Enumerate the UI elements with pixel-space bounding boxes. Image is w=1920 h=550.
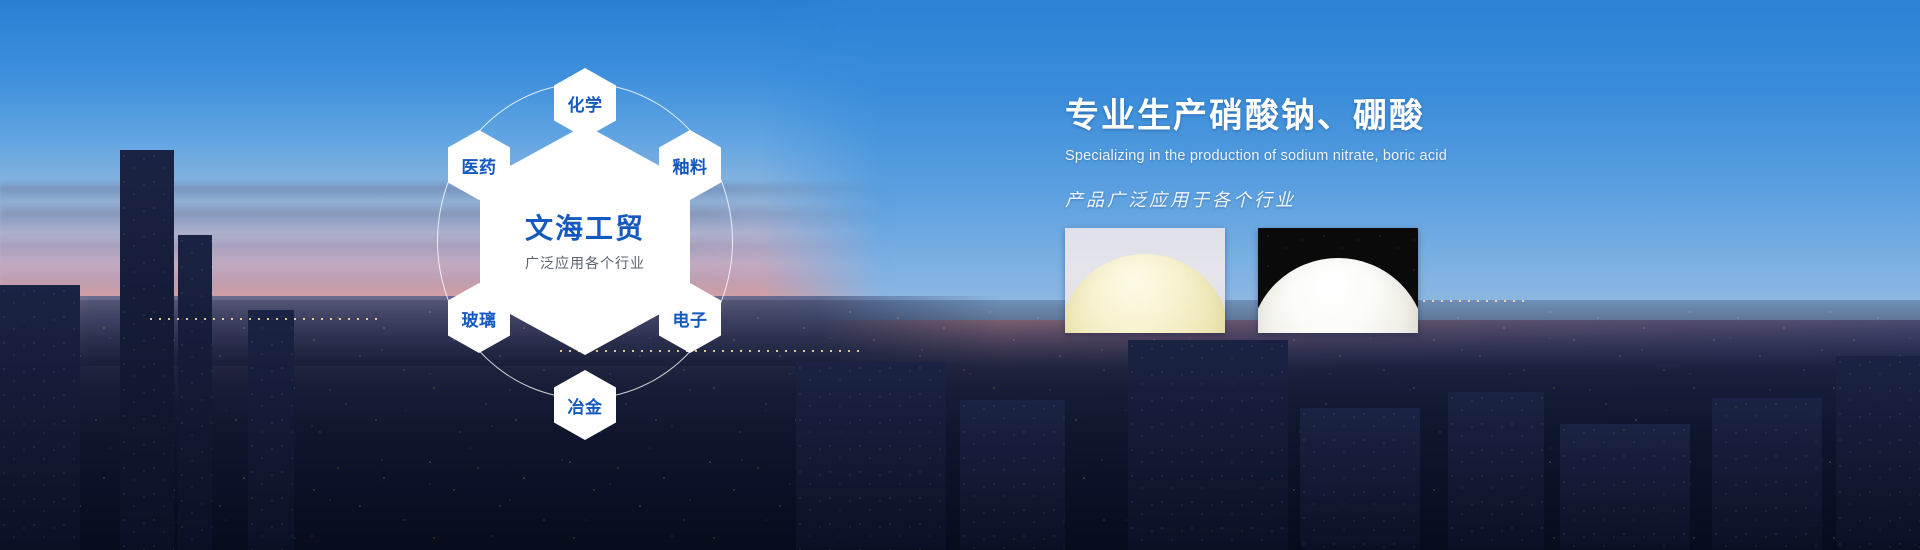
- boric-acid-photo[interactable]: [1258, 228, 1418, 333]
- industry-hex-diagram: 化学 釉料 医药 电子 玻璃 冶金 文海工贸 广泛应用各个行业: [420, 30, 750, 450]
- hex-node-label: 玻璃: [462, 306, 497, 331]
- headline-chinese: 专业生产硝酸钠、硼酸: [1065, 95, 1765, 138]
- headline-english: Specializing in the production of sodium…: [1065, 148, 1765, 164]
- company-tagline: 广泛应用各个行业: [525, 253, 645, 273]
- hex-node-label: 电子: [673, 306, 708, 331]
- company-name: 文海工贸: [525, 207, 645, 247]
- tower-silhouette: [1128, 340, 1288, 550]
- tower-silhouette: [248, 310, 294, 550]
- tower-silhouette: [0, 285, 80, 550]
- bridge-lights: [150, 318, 380, 320]
- tower-silhouette: [1560, 424, 1690, 550]
- tower-silhouette: [1300, 408, 1420, 550]
- hex-node-label: 冶金: [568, 393, 603, 418]
- product-photo-gallery: [1065, 228, 1418, 333]
- headline-chinese-secondary: 产品广泛应用于各个行业: [1065, 186, 1765, 212]
- tower-silhouette: [960, 400, 1065, 550]
- hex-node-label: 医药: [462, 153, 497, 178]
- hex-node-label: 釉料: [673, 153, 708, 178]
- hero-banner: 化学 釉料 医药 电子 玻璃 冶金 文海工贸 广泛应用各个行业 专业生产硝酸钠、…: [0, 0, 1920, 550]
- tower-silhouette: [1836, 356, 1920, 550]
- tower-silhouette: [796, 362, 946, 550]
- banner-copy: 专业生产硝酸钠、硼酸 Specializing in the productio…: [1065, 95, 1765, 212]
- powder-heap: [1065, 254, 1225, 333]
- tower-silhouette: [1448, 392, 1544, 550]
- tower-silhouette: [1712, 398, 1822, 550]
- powder-grain-texture: [1065, 254, 1225, 333]
- hex-node-label: 化学: [568, 91, 603, 116]
- tower-silhouette: [178, 235, 212, 550]
- sodium-nitrate-photo[interactable]: [1065, 228, 1225, 333]
- tower-silhouette: [120, 150, 174, 550]
